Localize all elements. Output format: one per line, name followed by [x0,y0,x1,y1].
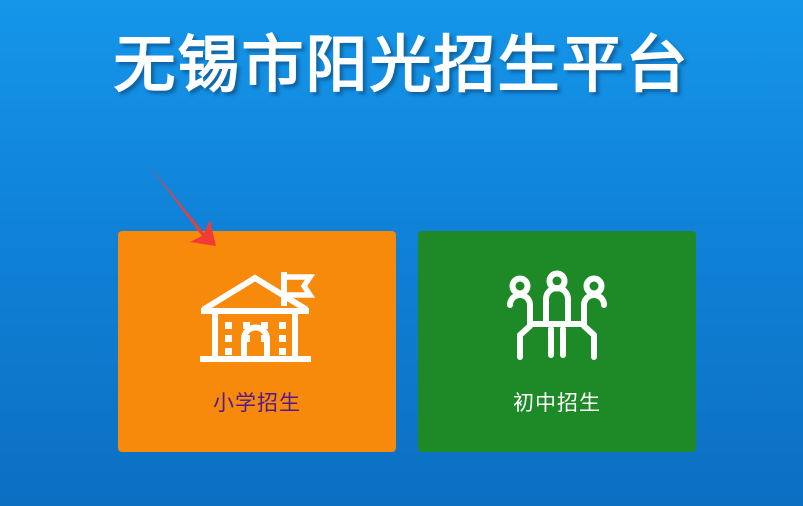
tile-primary-school-admission[interactable]: 小学招生 [118,231,396,452]
school-building-icon [198,269,316,369]
people-at-table-icon [498,269,616,369]
flag-banner [284,277,310,295]
tile-label-junior-high-admission: 初中招生 [513,391,601,417]
page-title: 无锡市阳光招生平台 [0,28,803,104]
tile-label-primary-school-admission: 小学招生 [213,391,301,417]
tile-junior-high-admission[interactable]: 初中招生 [418,231,696,452]
entry-tile-row: 小学招生 [118,231,696,452]
page-root: 无锡市阳光招生平台 [0,0,803,506]
